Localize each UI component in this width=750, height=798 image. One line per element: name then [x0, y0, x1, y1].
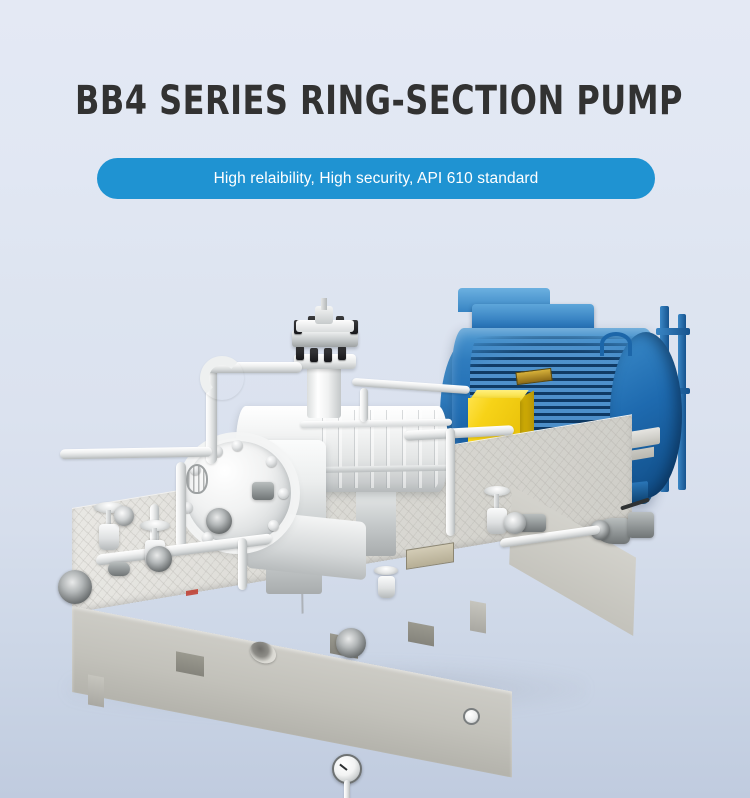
head-cover-bolt	[266, 456, 277, 467]
balance-line-elbow	[200, 356, 244, 400]
motor-lifting-lug	[600, 332, 632, 356]
flange-stud-bolt	[310, 348, 318, 362]
discharge-nozzle	[307, 362, 341, 418]
discharge-flange-face	[336, 628, 366, 658]
baseplate-notch-3	[408, 621, 434, 646]
page-title: BB4 SERIES RING-SECTION PUMP	[75, 78, 675, 124]
motor-frame-crossbar	[656, 328, 690, 335]
sight-glass-cage	[186, 464, 208, 494]
suction-downcomer	[176, 462, 186, 548]
red-alignment-mark	[186, 589, 198, 596]
pressure-gauge-small	[463, 708, 480, 725]
pipe-flange-face-1	[146, 546, 172, 572]
product-banner: BB4 SERIES RING-SECTION PUMP High relaib…	[0, 0, 750, 798]
subtitle-text: High relaibility, High security, API 610…	[214, 170, 539, 188]
suction-flange-face	[58, 570, 92, 604]
instrument-manifold	[252, 482, 274, 500]
flange-stud-bolt	[338, 346, 346, 360]
head-cover-bolt	[278, 488, 289, 499]
baseplate-foot-right	[470, 600, 486, 633]
flange-stud-bolt	[296, 346, 304, 360]
head-cover-bolt	[268, 520, 279, 531]
gate-valve-handwheel-4	[374, 566, 398, 575]
pipe-flange-face-2	[206, 508, 232, 534]
pipe-flange-face-3	[504, 512, 526, 534]
drain-coupling	[108, 562, 130, 576]
gauge-siphon	[344, 780, 350, 798]
pipe-flange-face-4	[114, 506, 134, 526]
baseplate-foot-left	[88, 674, 104, 707]
vent-valve-stem	[321, 298, 327, 310]
seal-flush-riser	[446, 428, 455, 536]
gate-valve-body-4	[378, 576, 395, 598]
flange-stud-bolt	[324, 348, 332, 362]
subtitle-pill: High relaibility, High security, API 610…	[97, 158, 655, 199]
baseplate-front-face	[72, 606, 512, 778]
head-cover-bolt	[232, 440, 243, 451]
casing-vent-riser	[360, 388, 368, 422]
skid-block-valve-2	[628, 512, 654, 538]
drain-riser	[238, 538, 247, 590]
product-photo	[0, 270, 750, 740]
gate-valve-body-1	[99, 524, 119, 550]
